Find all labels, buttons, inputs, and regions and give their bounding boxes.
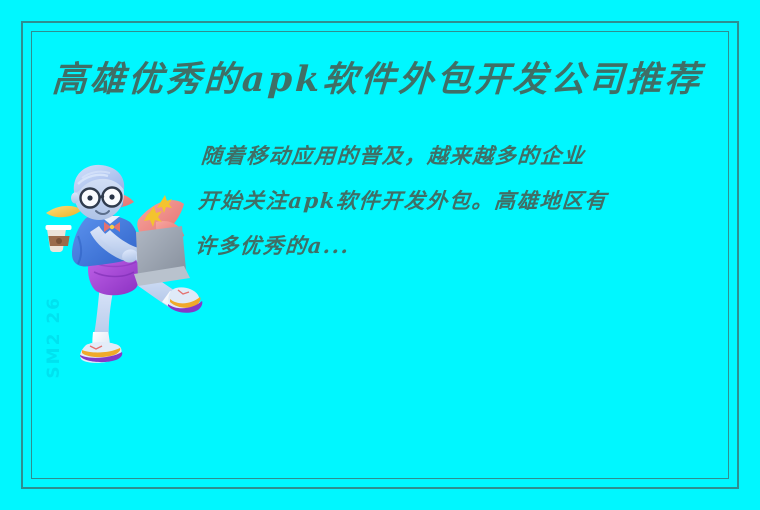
body-line: 许多优秀的a... [193, 223, 724, 268]
page-title: 高雄优秀的apk软件外包开发公司推荐 [51, 58, 713, 102]
laptop [134, 226, 190, 286]
watermark-text: SM2 26 [44, 296, 64, 379]
shoe-front [168, 287, 202, 312]
poster-card: SM2 26 高雄优秀的apk软件外包开发公司推荐 随着移动应用的普及，越来越多… [0, 0, 760, 510]
shoe-back [80, 342, 122, 363]
body-line: 随着移动应用的普及，越来越多的企业 [200, 133, 731, 178]
body-paragraph: 随着移动应用的普及，越来越多的企业 开始关注apk软件开发外包。高雄地区有 许多… [193, 133, 730, 268]
body-line: 开始关注apk软件开发外包。高雄地区有 [196, 178, 727, 223]
coffee-cup-icon [46, 225, 72, 252]
